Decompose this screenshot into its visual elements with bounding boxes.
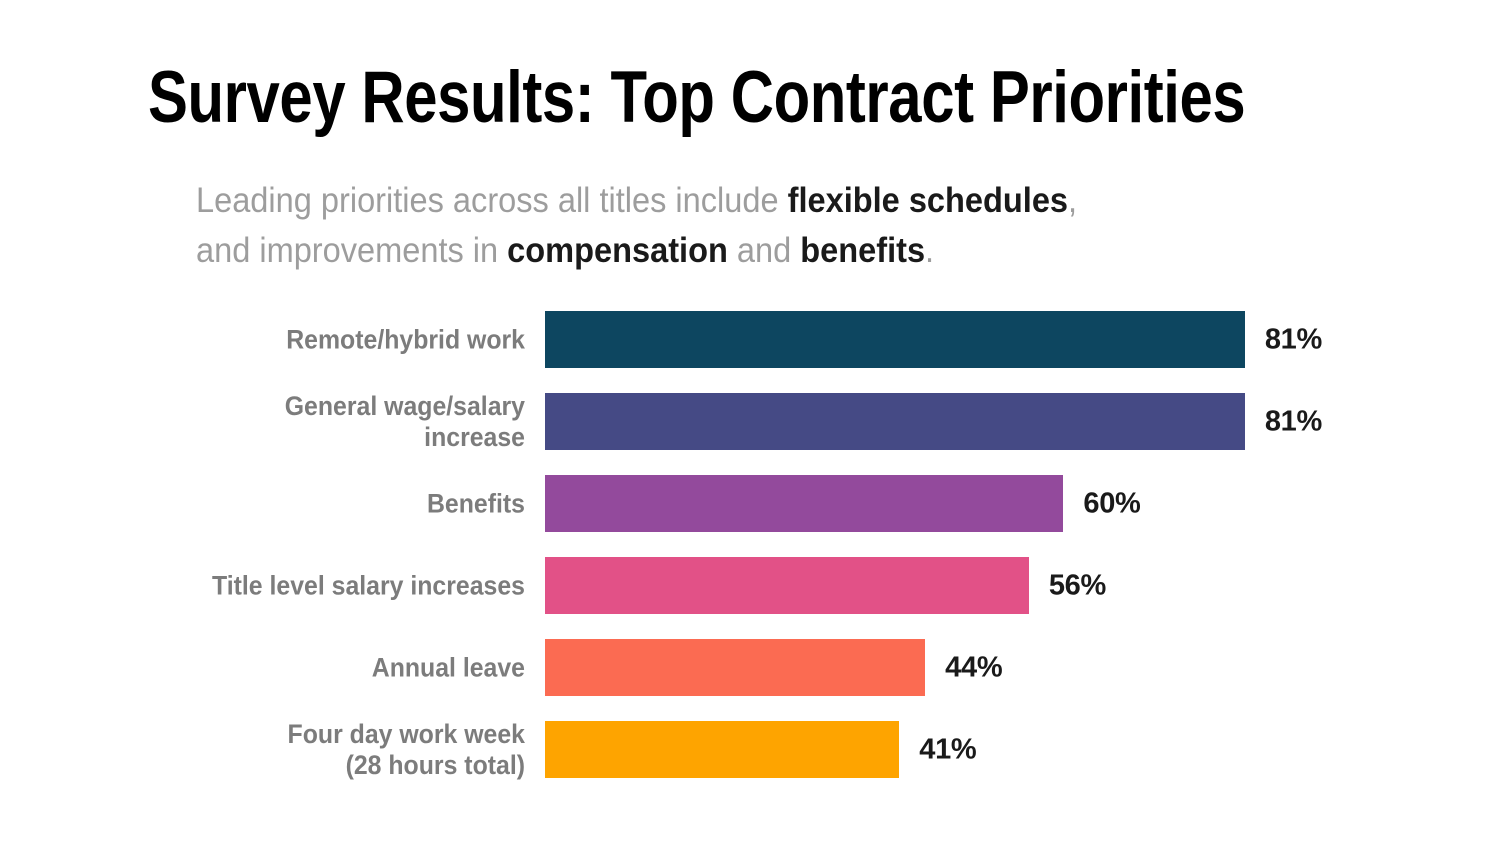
subtitle-emphasis-compensation: compensation — [507, 231, 728, 270]
category-label: Four day work week (28 hours total) — [152, 719, 525, 781]
category-label: General wage/salary increase — [152, 391, 525, 453]
bar-track: 56% — [545, 557, 1425, 614]
bar-value-label: 56% — [1049, 569, 1106, 602]
bar-track: 81% — [545, 393, 1425, 450]
bar-track: 81% — [545, 311, 1425, 368]
category-label: Annual leave — [152, 652, 525, 683]
bar-chart: Remote/hybrid work81%General wage/salary… — [0, 296, 1500, 806]
bar-value-label: 44% — [945, 651, 1002, 684]
subtitle-line2-mid: and — [728, 231, 800, 270]
subtitle-line2-tail: . — [925, 231, 934, 270]
subtitle-emphasis-benefits: benefits — [800, 231, 925, 270]
bar[interactable] — [545, 639, 925, 696]
subtitle-line2-text: and improvements in — [196, 231, 507, 270]
bar-track: 60% — [545, 475, 1425, 532]
bar-value-label: 60% — [1083, 487, 1140, 520]
chart-row: General wage/salary increase81% — [0, 393, 1500, 450]
bar-value-label: 41% — [919, 733, 976, 766]
subtitle-emphasis-flexible-schedules: flexible schedules — [788, 181, 1068, 220]
bar-value-label: 81% — [1265, 405, 1322, 438]
bar-value-label: 81% — [1265, 323, 1322, 356]
bar[interactable] — [545, 557, 1029, 614]
chart-row: Title level salary increases56% — [0, 557, 1500, 614]
subtitle-line1-text: Leading priorities across all titles inc… — [196, 181, 788, 220]
bar-track: 44% — [545, 639, 1425, 696]
page-title: Survey Results: Top Contract Priorities — [148, 54, 1157, 142]
chart-row: Four day work week (28 hours total)41% — [0, 721, 1500, 778]
chart-row: Annual leave44% — [0, 639, 1500, 696]
category-label: Title level salary increases — [152, 570, 525, 601]
slide-canvas: Survey Results: Top Contract Priorities … — [0, 0, 1500, 843]
category-label: Remote/hybrid work — [152, 324, 525, 355]
subtitle: Leading priorities across all titles inc… — [196, 176, 1238, 276]
chart-row: Remote/hybrid work81% — [0, 311, 1500, 368]
category-label: Benefits — [152, 488, 525, 519]
subtitle-line1-tail: , — [1068, 181, 1077, 220]
bar[interactable] — [545, 311, 1245, 368]
bar-track: 41% — [545, 721, 1425, 778]
bar[interactable] — [545, 721, 899, 778]
chart-row: Benefits60% — [0, 475, 1500, 532]
bar[interactable] — [545, 393, 1245, 450]
bar[interactable] — [545, 475, 1063, 532]
